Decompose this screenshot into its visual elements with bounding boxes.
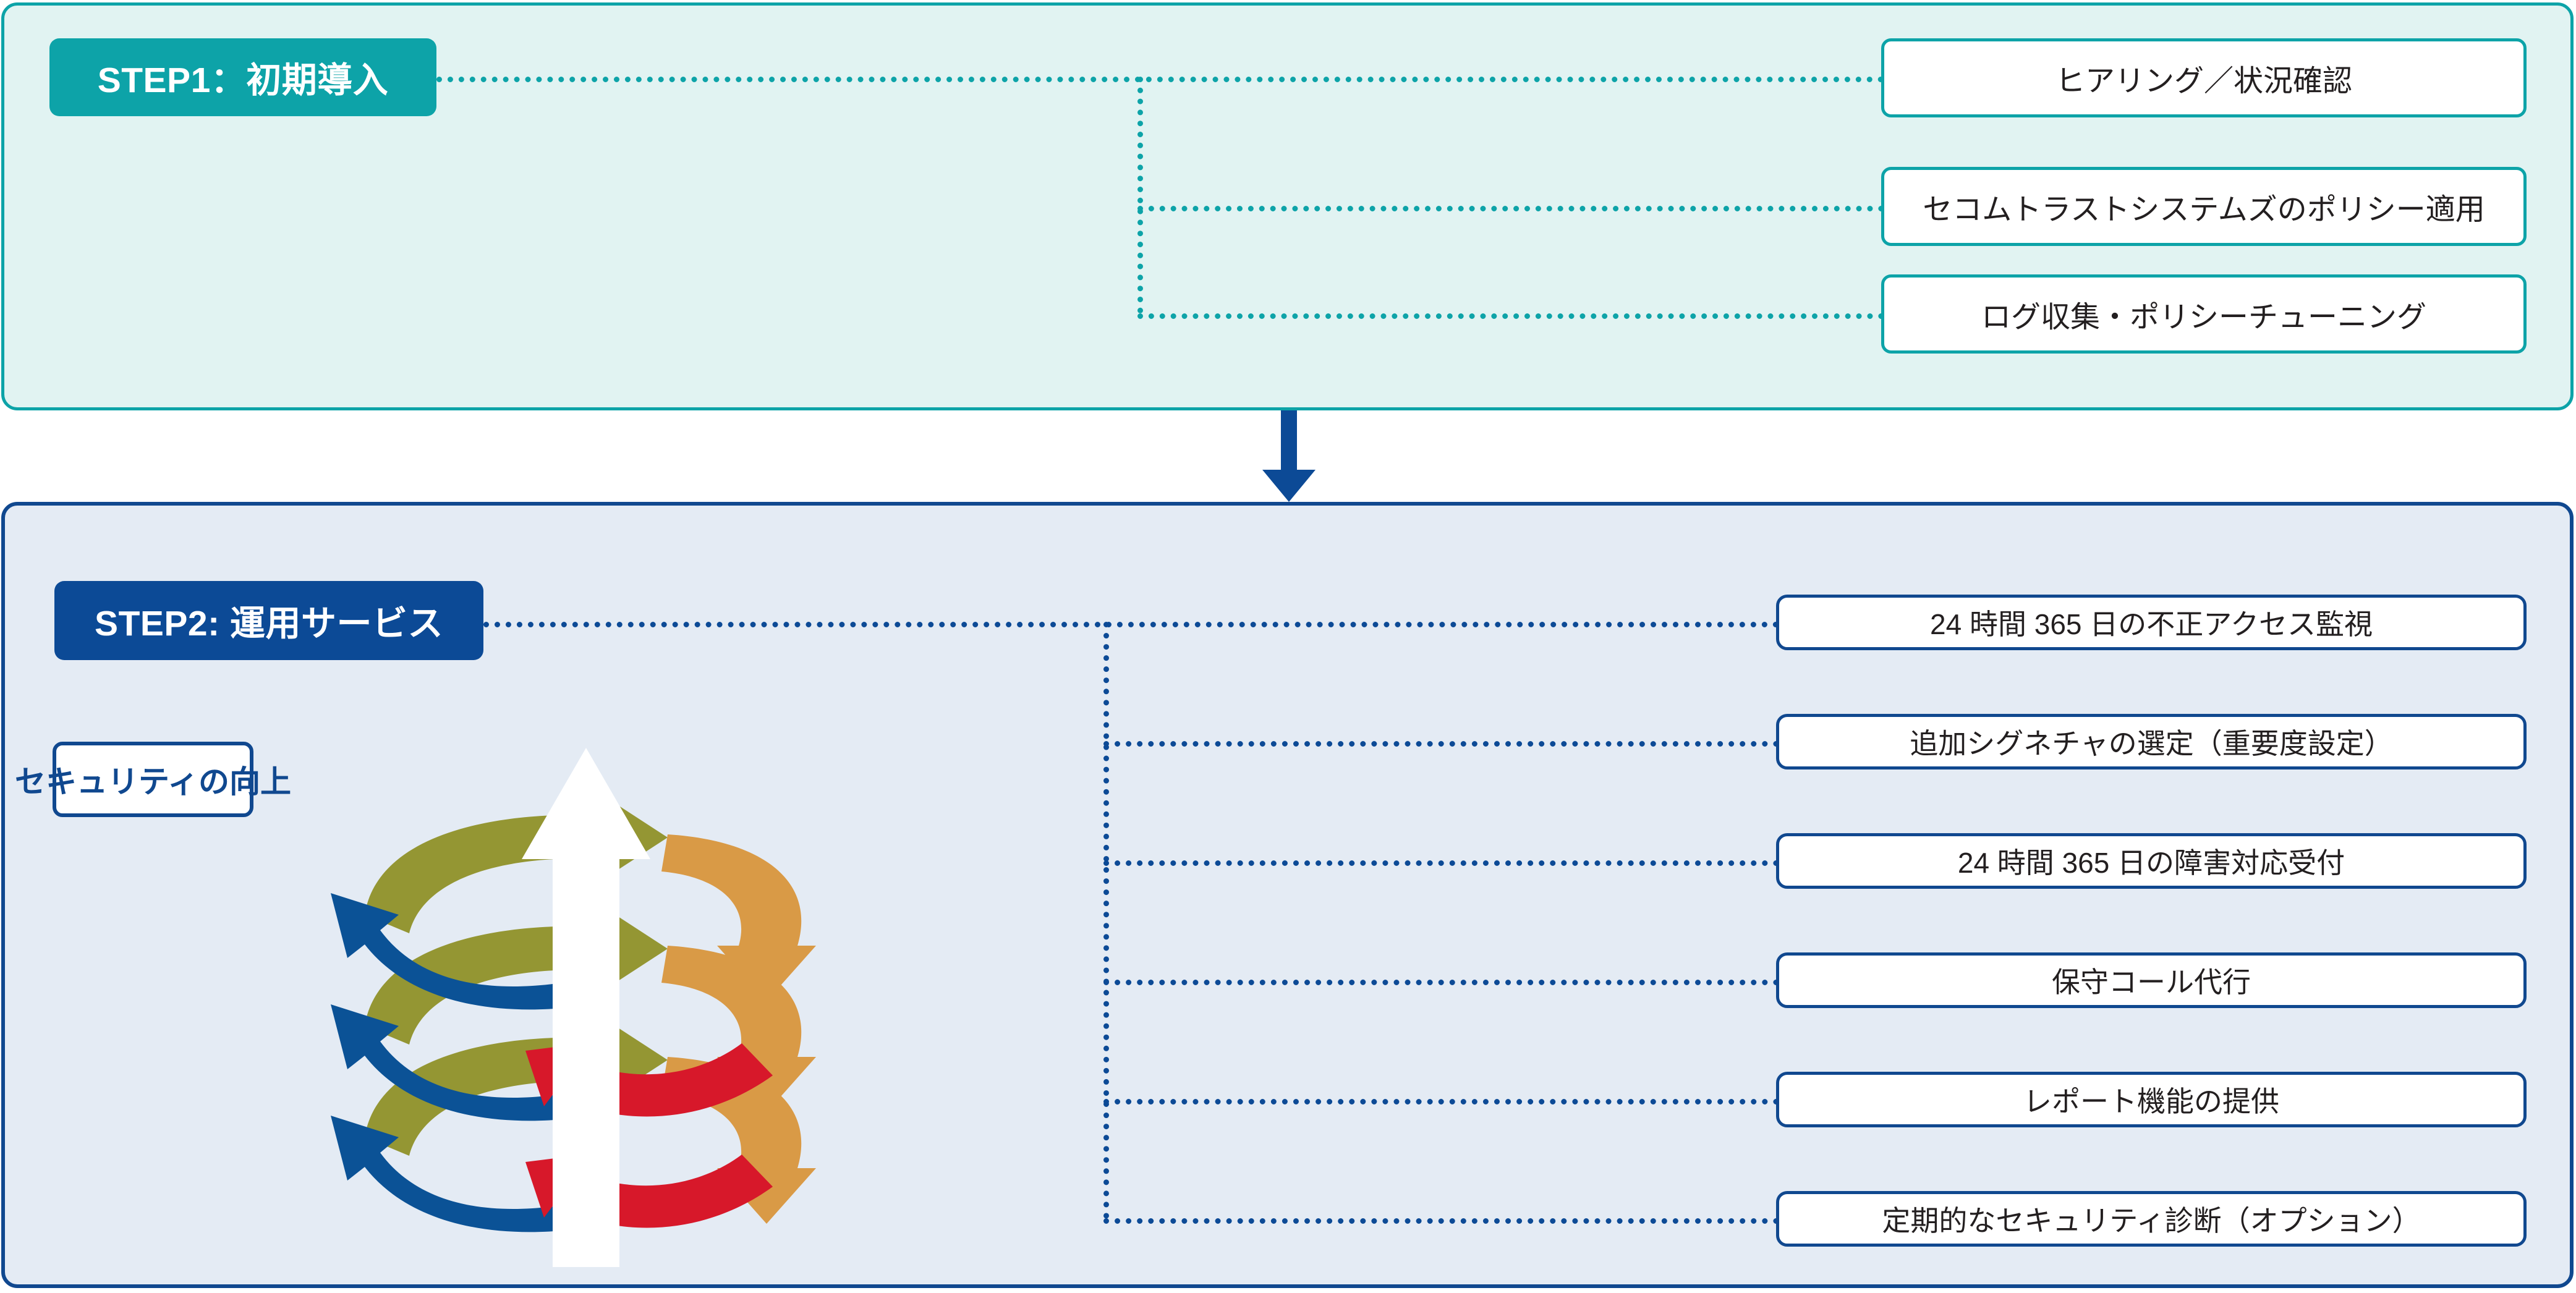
step1-item-box[interactable]: ヒアリング／状況確認: [1881, 38, 2527, 117]
security-improvement-label: セキュリティの向上: [53, 742, 253, 817]
step2-item-box[interactable]: 保守コール代行: [1776, 952, 2527, 1008]
step1-connector-branch-2: [1137, 206, 1884, 211]
step1-item-label: ログ収集・ポリシーチューニング: [1981, 292, 2426, 336]
step1-connector-trunk-horizontal: [436, 77, 1884, 82]
step2-connector-branch-2: [1103, 741, 1779, 747]
step2-item-label: 24 時間 365 日の不正アクセス監視: [1930, 602, 2373, 643]
upward-spiral-improvement-icon: [272, 711, 890, 1267]
step1-connector-trunk-vertical: [1137, 77, 1143, 313]
step2-connector-trunk-horizontal: [483, 622, 1779, 627]
step2-item-label: 24 時間 365 日の障害対応受付: [1958, 841, 2345, 881]
diagram-canvas: STEP1：初期導入 ヒアリング／状況確認 セコムトラストシステムズのポリシー適…: [0, 0, 2576, 1293]
step1-header-chip: STEP1：初期導入: [49, 38, 436, 116]
step2-item-box[interactable]: 24 時間 365 日の不正アクセス監視: [1776, 595, 2527, 650]
step1-item-box[interactable]: セコムトラストシステムズのポリシー適用: [1881, 167, 2527, 246]
step2-item-label: 保守コール代行: [2052, 960, 2251, 1001]
step2-item-box[interactable]: 定期的なセキュリティ診断（オプション）: [1776, 1191, 2527, 1247]
step2-header-label: STEP2: 運用サービス: [95, 595, 443, 646]
step2-item-label: 定期的なセキュリティ診断（オプション）: [1882, 1198, 2420, 1239]
step2-item-box[interactable]: 24 時間 365 日の障害対応受付: [1776, 833, 2527, 889]
step2-connector-branch-3: [1103, 860, 1779, 866]
step2-connector-branch-5: [1103, 1099, 1779, 1104]
step2-item-label: レポート機能の提供: [2023, 1079, 2279, 1120]
security-improvement-text: セキュリティの向上: [15, 757, 291, 802]
step2-item-label: 追加シグネチャの選定（重要度設定）: [1910, 721, 2393, 762]
step2-item-box[interactable]: 追加シグネチャの選定（重要度設定）: [1776, 714, 2527, 769]
step2-connector-trunk-vertical: [1103, 622, 1109, 1219]
step1-item-label: セコムトラストシステムズのポリシー適用: [1923, 185, 2485, 228]
step1-item-box[interactable]: ログ収集・ポリシーチューニング: [1881, 274, 2527, 354]
step2-connector-branch-4: [1103, 980, 1779, 985]
step1-header-label: STEP1：初期導入: [98, 52, 389, 103]
step2-item-box[interactable]: レポート機能の提供: [1776, 1072, 2527, 1127]
step-flow-down-arrow-icon: [1243, 410, 1335, 503]
step1-connector-branch-3: [1137, 313, 1884, 319]
step2-header-chip: STEP2: 運用サービス: [54, 581, 483, 660]
step1-item-label: ヒアリング／状況確認: [2055, 56, 2352, 100]
step2-connector-branch-6: [1103, 1218, 1779, 1224]
